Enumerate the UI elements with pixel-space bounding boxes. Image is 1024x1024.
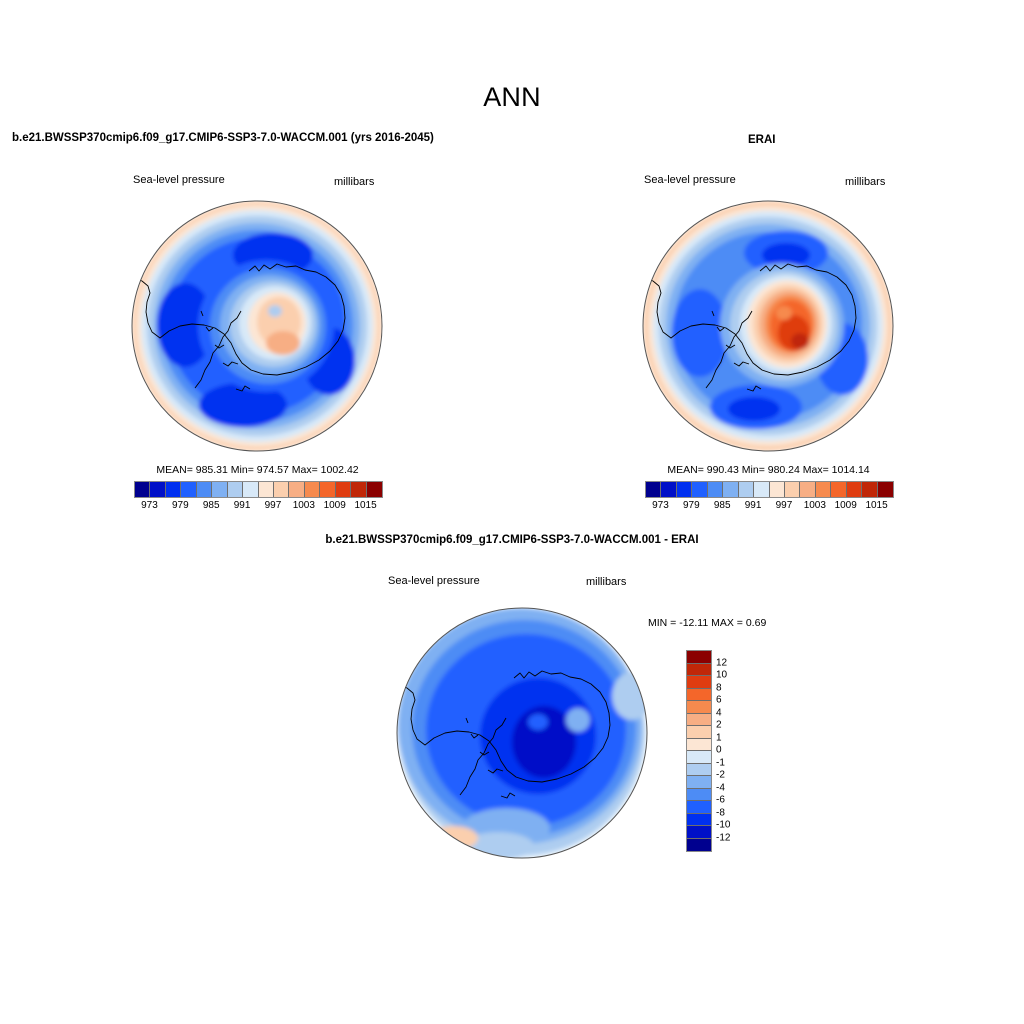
colorbar-swatch xyxy=(687,701,711,714)
colorbar-swatch xyxy=(336,482,351,497)
obs-variable-label: Sea-level pressure xyxy=(644,174,736,186)
colorbar-swatch xyxy=(785,482,800,497)
colorbar-tick-label: 1003 xyxy=(804,500,826,511)
colorbar-tick-label: 985 xyxy=(714,500,731,511)
colorbar-tick-label: 991 xyxy=(234,500,251,511)
colorbar-swatch xyxy=(135,482,150,497)
colorbar-swatch xyxy=(687,751,711,764)
model-variable-label: Sea-level pressure xyxy=(133,174,225,186)
diff-variable-label: Sea-level pressure xyxy=(388,575,480,587)
model-units-label: millibars xyxy=(334,176,374,188)
model-colorbar-ticks: 973979985991997100310091015 xyxy=(134,498,381,514)
colorbar-swatch xyxy=(878,482,893,497)
colorbar-swatch xyxy=(274,482,289,497)
colorbar-tick-label: -8 xyxy=(716,807,725,818)
colorbar-swatch xyxy=(687,689,711,702)
colorbar-tick-label: 979 xyxy=(683,500,700,511)
obs-colorbar-swatches xyxy=(645,481,894,498)
colorbar-swatch xyxy=(289,482,304,497)
colorbar-swatch xyxy=(351,482,366,497)
colorbar-tick-label: -4 xyxy=(716,782,725,793)
obs-stats: MEAN= 990.43 Min= 980.24 Max= 1014.14 xyxy=(645,464,892,476)
colorbar-swatch xyxy=(754,482,769,497)
colorbar-swatch xyxy=(197,482,212,497)
diff-map xyxy=(388,600,668,870)
colorbar-swatch xyxy=(367,482,382,497)
model-stats: MEAN= 985.31 Min= 974.57 Max= 1002.42 xyxy=(134,464,381,476)
model-map-svg xyxy=(123,193,403,463)
colorbar-swatch xyxy=(259,482,274,497)
colorbar-tick-label: 2 xyxy=(716,720,722,731)
colorbar-swatch xyxy=(212,482,227,497)
colorbar-tick-label: 1 xyxy=(716,732,722,743)
colorbar-swatch xyxy=(687,651,711,664)
colorbar-tick-label: 985 xyxy=(203,500,220,511)
colorbar-swatch xyxy=(646,482,661,497)
colorbar-tick-label: 979 xyxy=(172,500,189,511)
colorbar-tick-label: 0 xyxy=(716,745,722,756)
colorbar-swatch xyxy=(305,482,320,497)
colorbar-swatch xyxy=(687,764,711,777)
colorbar-swatch xyxy=(677,482,692,497)
colorbar-swatch xyxy=(739,482,754,497)
colorbar-tick-label: -12 xyxy=(716,832,730,843)
colorbar-tick-label: 1015 xyxy=(865,500,887,511)
colorbar-swatch xyxy=(687,789,711,802)
colorbar-tick-label: 1009 xyxy=(835,500,857,511)
diff-colorbar-swatches xyxy=(686,650,712,852)
colorbar-swatch xyxy=(150,482,165,497)
colorbar-swatch xyxy=(661,482,676,497)
colorbar-tick-label: -2 xyxy=(716,770,725,781)
diff-map-svg xyxy=(388,600,668,870)
obs-map-svg xyxy=(634,193,914,463)
colorbar-swatch xyxy=(862,482,877,497)
colorbar-tick-label: 973 xyxy=(652,500,669,511)
colorbar-swatch xyxy=(847,482,862,497)
colorbar-swatch xyxy=(687,814,711,827)
colorbar-tick-label: 4 xyxy=(716,707,722,718)
colorbar-swatch xyxy=(181,482,196,497)
page-title: ANN xyxy=(0,82,1024,113)
colorbar-swatch xyxy=(166,482,181,497)
diff-colorbar-ticks: 1210864210-1-2-4-6-8-10-12 xyxy=(716,650,756,850)
colorbar-swatch xyxy=(687,801,711,814)
diff-units-label: millibars xyxy=(586,576,626,588)
colorbar-tick-label: 997 xyxy=(776,500,793,511)
diff-panel-title: b.e21.BWSSP370cmip6.f09_g17.CMIP6-SSP3-7… xyxy=(0,534,1024,546)
model-panel-title: b.e21.BWSSP370cmip6.f09_g17.CMIP6-SSP3-7… xyxy=(12,132,434,144)
colorbar-tick-label: -10 xyxy=(716,820,730,831)
obs-panel-title: ERAI xyxy=(748,134,775,146)
colorbar-tick-label: 12 xyxy=(716,657,727,668)
colorbar-tick-label: 1003 xyxy=(293,500,315,511)
obs-map xyxy=(634,193,914,463)
colorbar-tick-label: 6 xyxy=(716,695,722,706)
obs-colorbar: 973979985991997100310091015 xyxy=(645,481,894,514)
colorbar-swatch xyxy=(243,482,258,497)
colorbar-tick-label: -1 xyxy=(716,757,725,768)
colorbar-swatch xyxy=(816,482,831,497)
model-colorbar: 973979985991997100310091015 xyxy=(134,481,383,514)
colorbar-swatch xyxy=(687,739,711,752)
colorbar-swatch xyxy=(687,664,711,677)
colorbar-swatch xyxy=(228,482,243,497)
colorbar-tick-label: 1015 xyxy=(354,500,376,511)
colorbar-swatch xyxy=(708,482,723,497)
colorbar-swatch xyxy=(692,482,707,497)
colorbar-swatch xyxy=(831,482,846,497)
obs-units-label: millibars xyxy=(845,176,885,188)
colorbar-swatch xyxy=(687,676,711,689)
obs-colorbar-ticks: 973979985991997100310091015 xyxy=(645,498,892,514)
colorbar-swatch xyxy=(687,726,711,739)
colorbar-swatch xyxy=(320,482,335,497)
colorbar-tick-label: -6 xyxy=(716,795,725,806)
model-colorbar-swatches xyxy=(134,481,383,498)
colorbar-swatch xyxy=(687,839,711,852)
colorbar-tick-label: 997 xyxy=(265,500,282,511)
colorbar-tick-label: 8 xyxy=(716,682,722,693)
colorbar-swatch xyxy=(687,826,711,839)
diff-colorbar: 1210864210-1-2-4-6-8-10-12 xyxy=(686,650,756,850)
colorbar-tick-label: 1009 xyxy=(324,500,346,511)
diff-stats: MIN = -12.11 MAX = 0.69 xyxy=(648,617,766,629)
colorbar-swatch xyxy=(687,776,711,789)
colorbar-tick-label: 991 xyxy=(745,500,762,511)
colorbar-tick-label: 973 xyxy=(141,500,158,511)
colorbar-swatch xyxy=(723,482,738,497)
colorbar-swatch xyxy=(687,714,711,727)
colorbar-swatch xyxy=(800,482,815,497)
colorbar-tick-label: 10 xyxy=(716,670,727,681)
colorbar-swatch xyxy=(770,482,785,497)
model-map xyxy=(123,193,403,463)
